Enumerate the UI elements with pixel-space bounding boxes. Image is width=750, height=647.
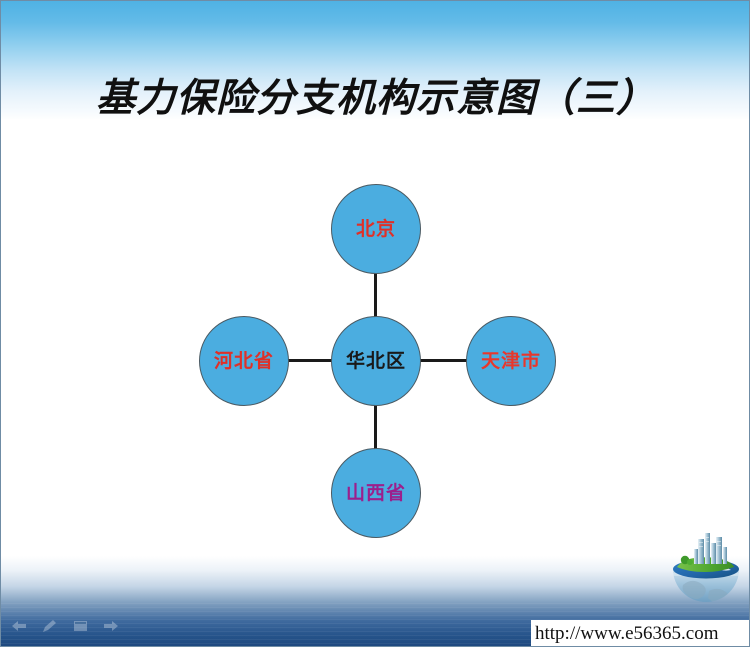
- diagram-node-west[interactable]: 河北省: [199, 316, 289, 406]
- slideshow-controls[interactable]: [9, 618, 121, 634]
- diagram-node-center[interactable]: 华北区: [331, 316, 421, 406]
- pen-tool-icon[interactable]: [40, 618, 59, 634]
- next-slide-icon[interactable]: [102, 618, 121, 634]
- diagram-node-east[interactable]: 天津市: [466, 316, 556, 406]
- globe-city-logo: [669, 529, 743, 607]
- diagram-node-east-label: 天津市: [481, 352, 541, 371]
- slide-menu-icon[interactable]: [71, 618, 90, 634]
- diagram-node-south-label: 山西省: [346, 484, 406, 503]
- watermark-url-text: http://www.e56365.com: [531, 623, 718, 645]
- presentation-slide: 基力保险分支机构示意图（三） 北京 河北省 华北区 天津市 山西省: [0, 0, 750, 647]
- diagram-node-south[interactable]: 山西省: [331, 448, 421, 538]
- previous-slide-icon[interactable]: [9, 618, 28, 634]
- diagram-node-west-label: 河北省: [214, 352, 274, 371]
- watermark-url: http://www.e56365.com: [531, 620, 750, 647]
- diagram-node-north-label: 北京: [356, 220, 396, 239]
- org-chart-diagram: 北京 河北省 华北区 天津市 山西省: [1, 1, 750, 647]
- diagram-node-center-label: 华北区: [346, 352, 406, 371]
- diagram-node-north[interactable]: 北京: [331, 184, 421, 274]
